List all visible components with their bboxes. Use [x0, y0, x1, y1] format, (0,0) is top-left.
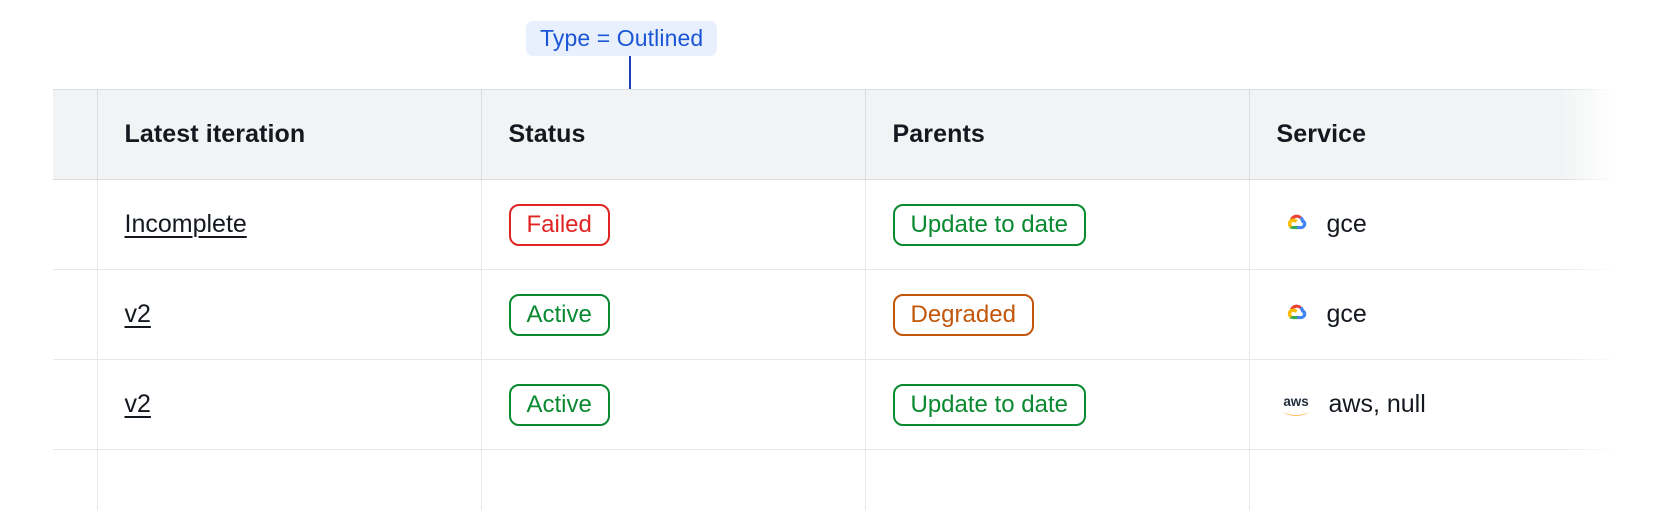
- column-header-select[interactable]: [53, 90, 97, 180]
- aws-icon: aws: [1277, 390, 1315, 420]
- cell-parents: Degraded: [865, 270, 1249, 360]
- table-header: Latest iteration Status Parents Service: [53, 90, 1618, 180]
- resources-table: Latest iteration Status Parents Service …: [53, 89, 1618, 510]
- cell-service: gce: [1249, 270, 1618, 360]
- cell-latest-iteration: v2: [97, 360, 481, 450]
- service-value: gce: [1277, 300, 1619, 330]
- cell-status: [481, 450, 865, 510]
- cell-latest-iteration: v2: [97, 270, 481, 360]
- column-header-status[interactable]: Status: [481, 90, 865, 180]
- status-badge[interactable]: Active: [509, 384, 610, 426]
- parents-badge[interactable]: Update to date: [893, 384, 1086, 426]
- cell-service: aws aws, null: [1249, 360, 1618, 450]
- column-header-service[interactable]: Service: [1249, 90, 1618, 180]
- service-label: gce: [1327, 210, 1367, 239]
- table-container: Latest iteration Status Parents Service …: [53, 89, 1618, 510]
- header-row: Latest iteration Status Parents Service: [53, 90, 1618, 180]
- table-row[interactable]: v2 Active Update to date aws: [53, 360, 1618, 450]
- cell-parents: Update to date: [865, 180, 1249, 270]
- cell-service: [1249, 450, 1618, 510]
- table-row[interactable]: [53, 450, 1618, 510]
- iteration-link[interactable]: Incomplete: [125, 210, 247, 238]
- cell-latest-iteration: [97, 450, 481, 510]
- table-row[interactable]: Incomplete Failed Update to date: [53, 180, 1618, 270]
- gcp-cloud-icon: [1277, 300, 1313, 330]
- cell-parents: [865, 450, 1249, 510]
- service-value: gce: [1277, 210, 1619, 240]
- cell-service: gce: [1249, 180, 1618, 270]
- service-label: aws, null: [1329, 390, 1426, 419]
- cell-latest-iteration: Incomplete: [97, 180, 481, 270]
- parents-badge[interactable]: Update to date: [893, 204, 1086, 246]
- status-badge[interactable]: Failed: [509, 204, 610, 246]
- gcp-cloud-icon: [1277, 210, 1313, 240]
- row-select-cell[interactable]: [53, 450, 97, 510]
- column-header-latest-iteration[interactable]: Latest iteration: [97, 90, 481, 180]
- status-badge[interactable]: Active: [509, 294, 610, 336]
- iteration-link[interactable]: v2: [125, 390, 151, 418]
- row-select-cell[interactable]: [53, 270, 97, 360]
- screenshot-root: Type = Outlined Latest iteration Status …: [0, 0, 1672, 510]
- cell-parents: Update to date: [865, 360, 1249, 450]
- annotation-label-type-outlined: Type = Outlined: [526, 21, 717, 56]
- row-select-cell[interactable]: [53, 360, 97, 450]
- svg-text:aws: aws: [1283, 393, 1308, 408]
- table-body: Incomplete Failed Update to date: [53, 180, 1618, 510]
- cell-status: Active: [481, 360, 865, 450]
- cell-status: Active: [481, 270, 865, 360]
- row-select-cell[interactable]: [53, 180, 97, 270]
- service-label: gce: [1327, 300, 1367, 329]
- service-value: aws aws, null: [1277, 390, 1619, 420]
- iteration-link[interactable]: v2: [125, 300, 151, 328]
- cell-status: Failed: [481, 180, 865, 270]
- parents-badge[interactable]: Degraded: [893, 294, 1034, 336]
- table-row[interactable]: v2 Active Degraded: [53, 270, 1618, 360]
- column-header-parents[interactable]: Parents: [865, 90, 1249, 180]
